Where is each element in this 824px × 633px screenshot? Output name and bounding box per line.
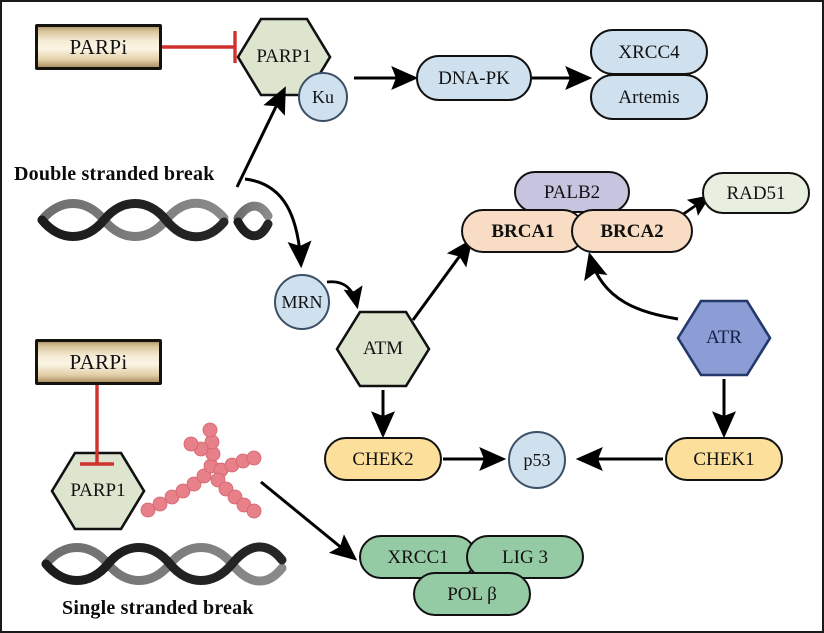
- node-p53[interactable]: p53: [508, 431, 566, 489]
- atr-hexagon[interactable]: [678, 301, 770, 375]
- node-xrcc4-label: XRCC4: [618, 43, 679, 62]
- node-chek1[interactable]: CHEK1: [665, 437, 783, 481]
- label-single-stranded-break: Single stranded break: [62, 597, 254, 620]
- node-xrcc1-label: XRCC1: [387, 548, 448, 567]
- node-brca2-label: BRCA2: [600, 222, 663, 241]
- edge-parchain-to-xrcc1: [261, 482, 354, 558]
- diagram-frame: PARPi PARP1 Ku DNA-PK XRCC4 Artemis Doub…: [0, 0, 824, 633]
- node-palb2[interactable]: PALB2: [514, 171, 630, 213]
- node-mrn[interactable]: MRN: [274, 274, 330, 330]
- label-single-stranded-break-text: Single stranded break: [62, 597, 254, 619]
- label-double-stranded-break: Double stranded break: [14, 163, 215, 186]
- par-chain-graphic: [141, 423, 261, 518]
- label-double-stranded-break-text: Double stranded break: [14, 163, 215, 185]
- node-parpi-top-label: PARPi: [70, 37, 128, 58]
- node-mrn-label: MRN: [281, 293, 322, 311]
- node-chek1-label: CHEK1: [693, 450, 754, 469]
- node-chek2-label: CHEK2: [352, 450, 413, 469]
- node-ku[interactable]: Ku: [298, 72, 348, 122]
- node-xrcc4[interactable]: XRCC4: [590, 29, 708, 75]
- node-parpi-top[interactable]: PARPi: [35, 24, 162, 70]
- dna-helix-single-strand-break: [46, 547, 282, 581]
- node-rad51-label: RAD51: [726, 184, 785, 203]
- node-p53-label: p53: [524, 451, 551, 469]
- node-dna-pk-label: DNA-PK: [438, 69, 510, 88]
- node-artemis-label: Artemis: [618, 88, 679, 107]
- edge-dsb-to-ku: [237, 90, 284, 187]
- node-rad51[interactable]: RAD51: [702, 172, 810, 214]
- edge-mrn-to-atm: [327, 282, 357, 306]
- node-brca1-label: BRCA1: [491, 222, 554, 241]
- node-palb2-label: PALB2: [544, 183, 600, 202]
- node-parpi-bottom-label: PARPi: [70, 352, 128, 373]
- node-brca1[interactable]: BRCA1: [461, 209, 585, 253]
- edge-dsb-to-mrn: [245, 179, 301, 264]
- edge-atr-to-brca2: [590, 256, 678, 319]
- node-lig3-label: LIG 3: [502, 548, 548, 567]
- node-pol-beta[interactable]: POL β: [413, 572, 531, 616]
- node-artemis[interactable]: Artemis: [590, 74, 708, 120]
- node-parpi-bottom[interactable]: PARPi: [35, 339, 162, 385]
- atm-hexagon[interactable]: [337, 312, 429, 386]
- node-brca2[interactable]: BRCA2: [571, 209, 693, 253]
- node-ku-label: Ku: [312, 88, 334, 106]
- node-dna-pk[interactable]: DNA-PK: [416, 55, 532, 101]
- edge-atm-to-brca1: [413, 242, 470, 320]
- node-pol-beta-label: POL β: [447, 585, 497, 604]
- dna-helix-double-strand-break: [42, 203, 268, 237]
- node-chek2[interactable]: CHEK2: [324, 437, 442, 481]
- inhibition-edge-parpi-top-to-parp1: [162, 31, 235, 63]
